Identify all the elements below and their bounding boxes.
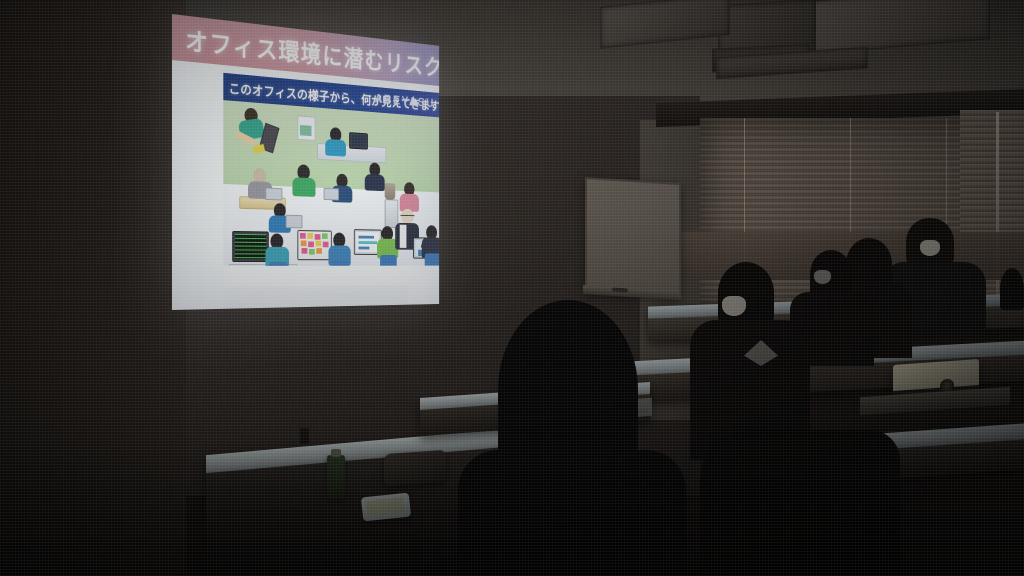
- projector-stand: [860, 387, 1010, 415]
- window-light-edge: [996, 112, 999, 312]
- slide: オフィス環境に潜むリスク: [172, 14, 439, 310]
- illustration-bottom-margin: [223, 266, 439, 288]
- illustration-sticky-note-monitor: [297, 230, 331, 260]
- illustration-laptop: [286, 215, 303, 229]
- illustration-trash-bin: [385, 183, 396, 200]
- seminar-room-photo: オフィス環境に潜むリスク: [0, 0, 1024, 576]
- illustration-person-body: [365, 174, 385, 191]
- left-wall: [0, 0, 186, 576]
- illustration-monitor: [349, 132, 368, 150]
- face-mask: [920, 240, 940, 256]
- illustration-person-body: [292, 177, 315, 197]
- green-tea-bottle: [327, 455, 345, 499]
- whiteboard-marker: [612, 288, 628, 293]
- illustration-panel-screen: [300, 125, 312, 136]
- illustration-terminal-monitor: [232, 231, 269, 262]
- pencil-case: [384, 450, 446, 486]
- attendee: [700, 430, 900, 576]
- whiteboard: [585, 177, 681, 299]
- wall-outlet: [299, 427, 310, 445]
- illustration-laptop: [265, 188, 282, 201]
- slide-illustration: [223, 100, 439, 287]
- face-mask: [814, 270, 831, 284]
- slide-left-margin: [172, 60, 223, 310]
- illustration-person-body: [325, 139, 346, 157]
- face-mask: [722, 296, 746, 316]
- illustration-laptop: [324, 188, 339, 201]
- bottle-cap: [331, 449, 341, 457]
- projection-screen: オフィス環境に潜むリスク: [172, 14, 439, 310]
